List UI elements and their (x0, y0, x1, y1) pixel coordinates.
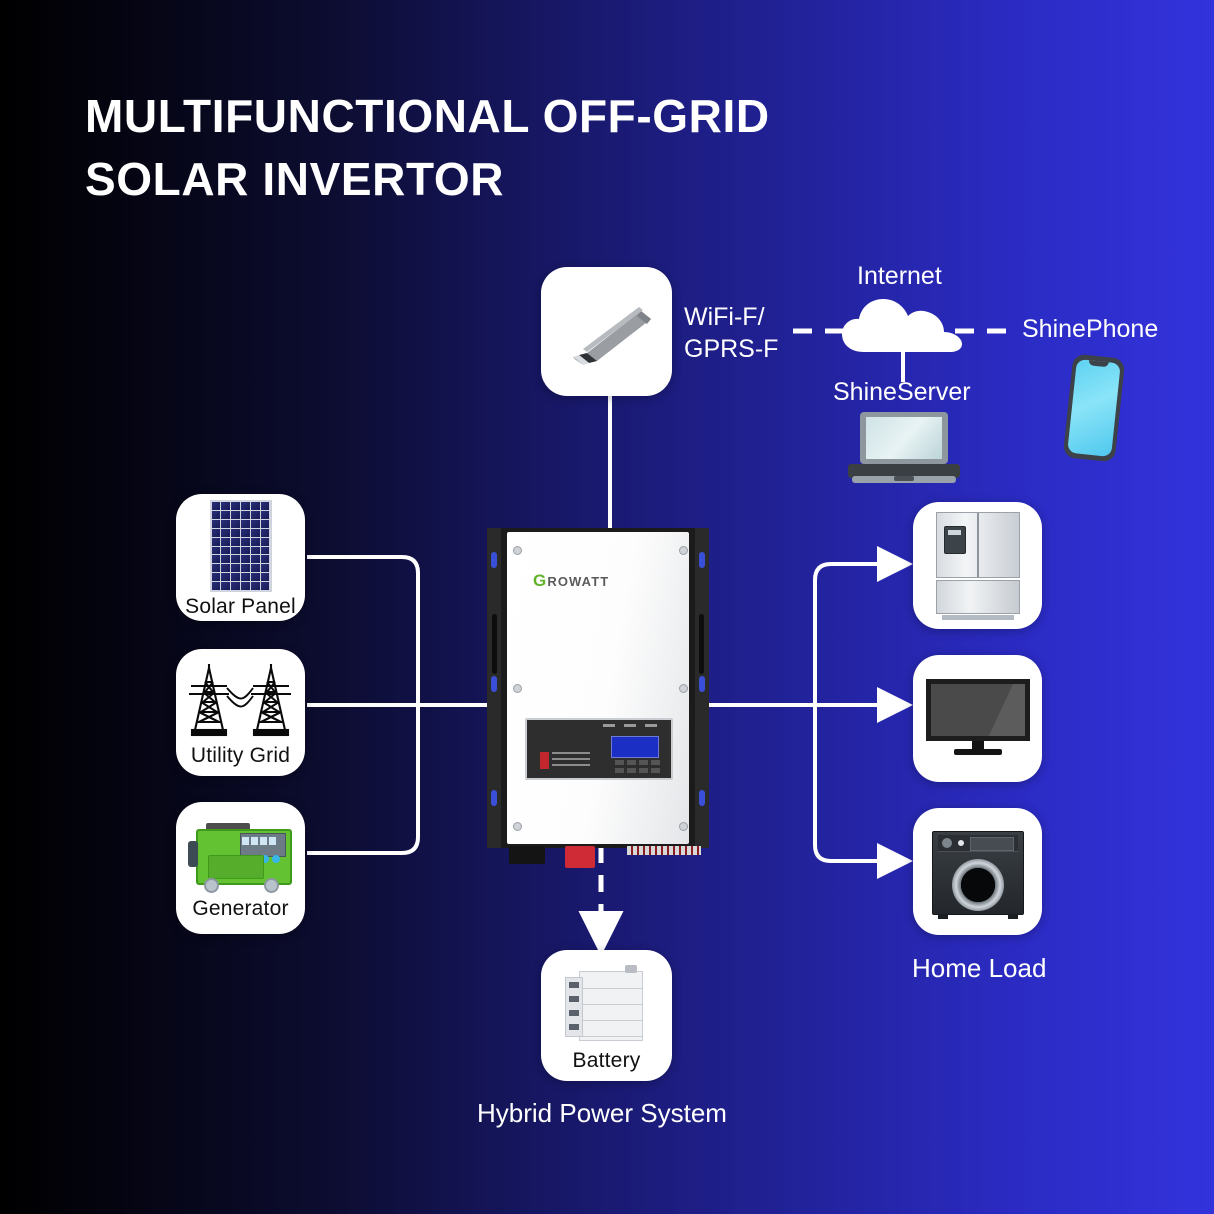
load-tile-television[interactable] (913, 655, 1042, 782)
source-label-generator: Generator (192, 897, 288, 921)
source-link-lines (307, 557, 487, 853)
keypad[interactable] (615, 760, 660, 773)
warning-indicator (540, 752, 549, 769)
utility-grid-icon (187, 660, 295, 742)
load-tile-refrigerator[interactable] (913, 502, 1042, 629)
title-line-2: SOLAR INVERTOR (85, 148, 905, 211)
inverter-control-panel[interactable] (525, 718, 673, 780)
growatt-logo-initial: G (533, 571, 547, 590)
inverter-unit[interactable]: GROWATT (487, 528, 709, 856)
page-title: MULTIFUNCTIONAL OFF-GRID SOLAR INVERTOR (85, 85, 905, 212)
dc-connector-red (565, 846, 595, 868)
battery-label: Battery (573, 1049, 641, 1073)
shinephone-label: ShinePhone (1022, 313, 1158, 345)
lcd-display (611, 736, 659, 758)
terminal-strip (627, 846, 701, 855)
battery-icon (565, 963, 649, 1047)
source-label-utility-grid: Utility Grid (191, 744, 290, 768)
battery-tile[interactable]: Battery (541, 950, 672, 1081)
load-link-lines (709, 564, 905, 861)
hybrid-power-system-label: Hybrid Power System (477, 1097, 727, 1130)
internet-label: Internet (857, 260, 942, 292)
home-load-label: Home Load (912, 952, 1046, 985)
wifi-module-label: WiFi-F/ GPRS-F (684, 301, 778, 365)
cloud-icon (840, 296, 968, 354)
diagram-canvas: MULTIFUNCTIONAL OFF-GRID SOLAR INVERTOR (0, 0, 1214, 1214)
laptop-icon (848, 412, 960, 484)
status-leds (603, 724, 657, 727)
source-tile-solar-panel[interactable]: Solar Panel (176, 494, 305, 621)
washing-machine-icon (932, 825, 1024, 919)
load-tile-washing-machine[interactable] (913, 808, 1042, 935)
title-line-1: MULTIFUNCTIONAL OFF-GRID (85, 85, 905, 148)
panel-legend-text (552, 752, 590, 770)
source-tile-utility-grid[interactable]: Utility Grid (176, 649, 305, 776)
generator-icon (188, 821, 294, 893)
refrigerator-icon (936, 512, 1020, 620)
television-icon (926, 679, 1030, 759)
growatt-logo: GROWATT (533, 571, 609, 591)
growatt-logo-text: ROWATT (547, 574, 609, 589)
wifi-dongle-icon (559, 297, 655, 367)
dc-connector-black (509, 846, 545, 864)
source-label-solar-panel: Solar Panel (185, 595, 296, 619)
smartphone-icon (1068, 356, 1120, 460)
solar-panel-icon (210, 500, 272, 592)
wifi-module-tile[interactable] (541, 267, 672, 396)
shineserver-label: ShineServer (833, 376, 971, 408)
source-tile-generator[interactable]: Generator (176, 802, 305, 934)
